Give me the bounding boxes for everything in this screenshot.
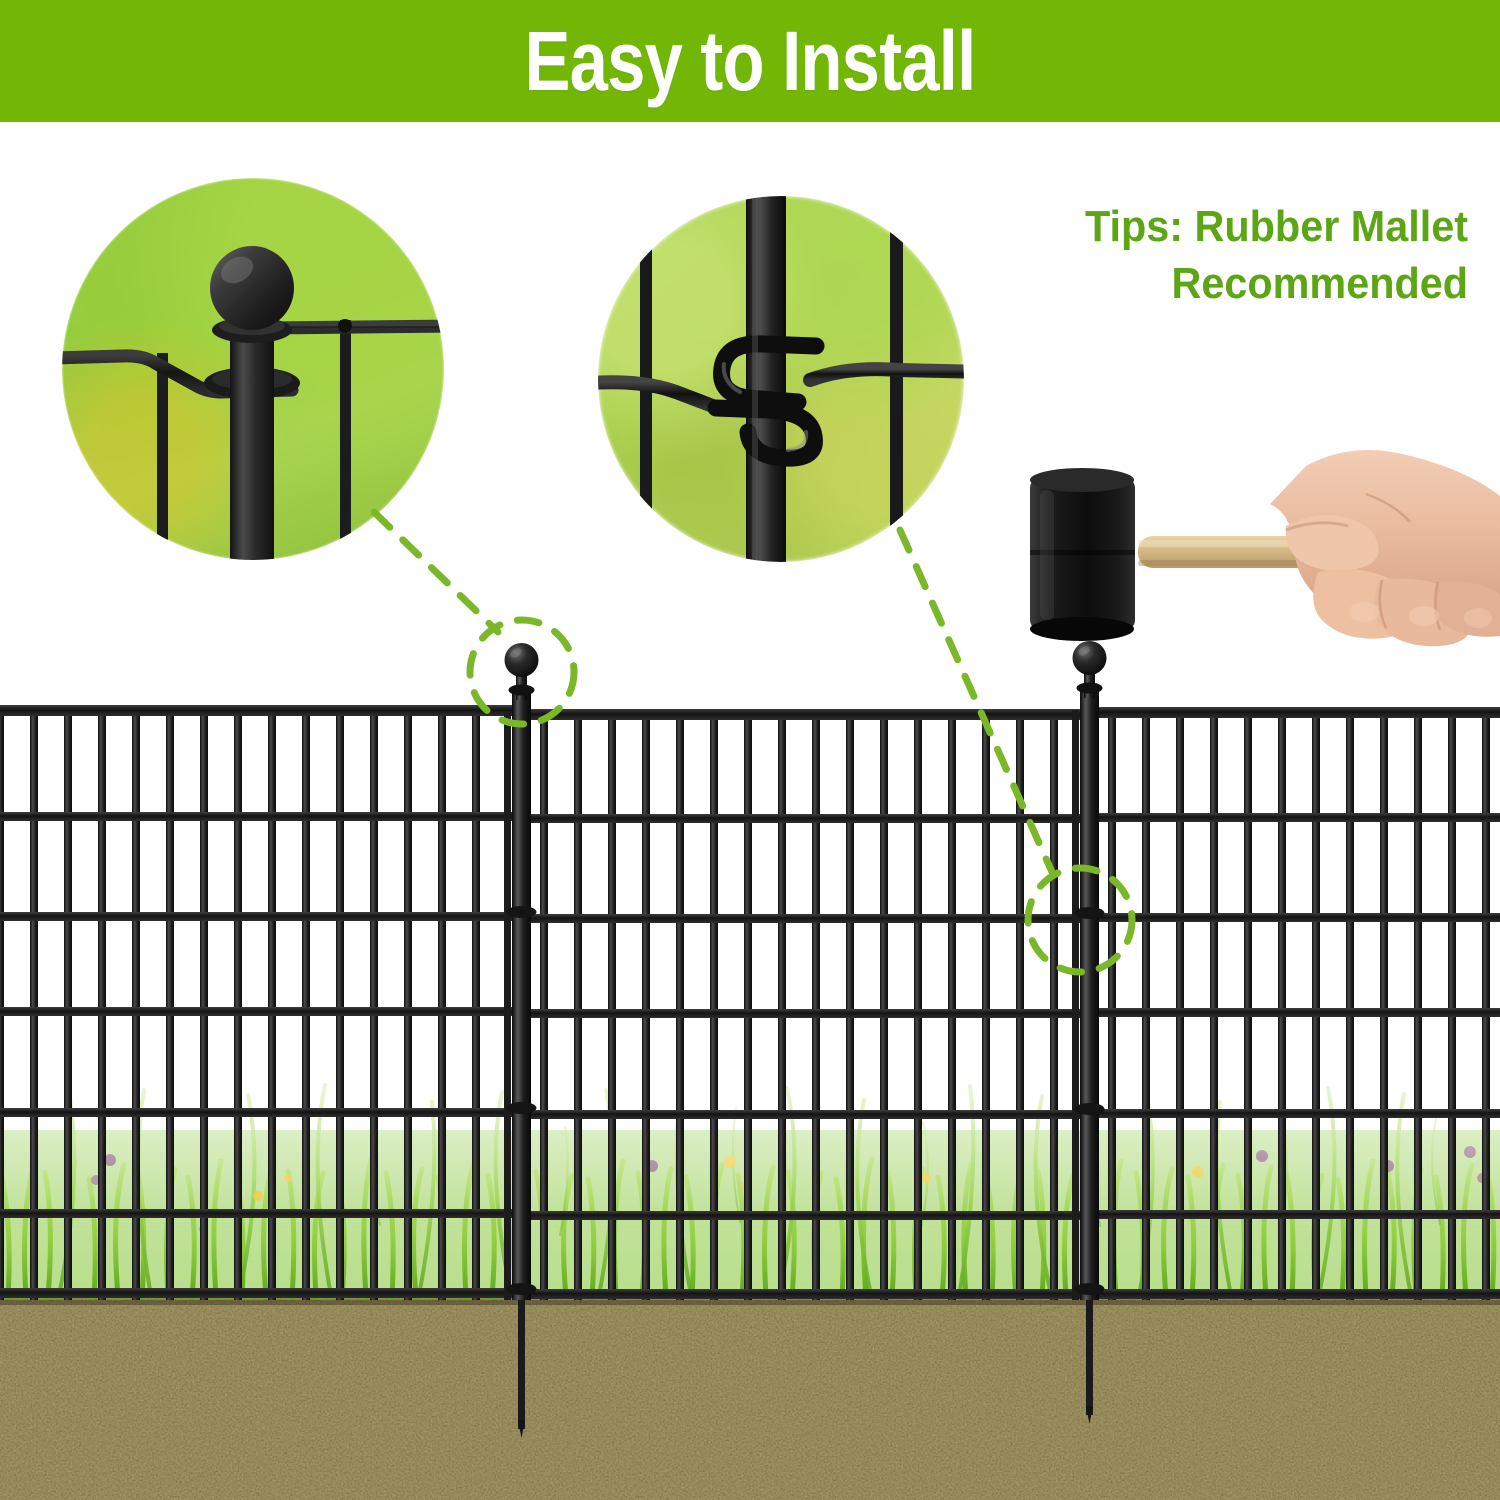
rubber-mallet-with-hand [1010,430,1500,700]
fence-scene [0,0,1500,1500]
callout-post-cap [374,512,574,724]
soil-ground [0,1297,1500,1500]
hand [1270,450,1500,646]
fence-panel-3 [1096,707,1500,1300]
mallet-head [1030,468,1135,641]
fence-panel-2 [528,709,1084,1300]
fence-panel-1 [0,705,512,1300]
